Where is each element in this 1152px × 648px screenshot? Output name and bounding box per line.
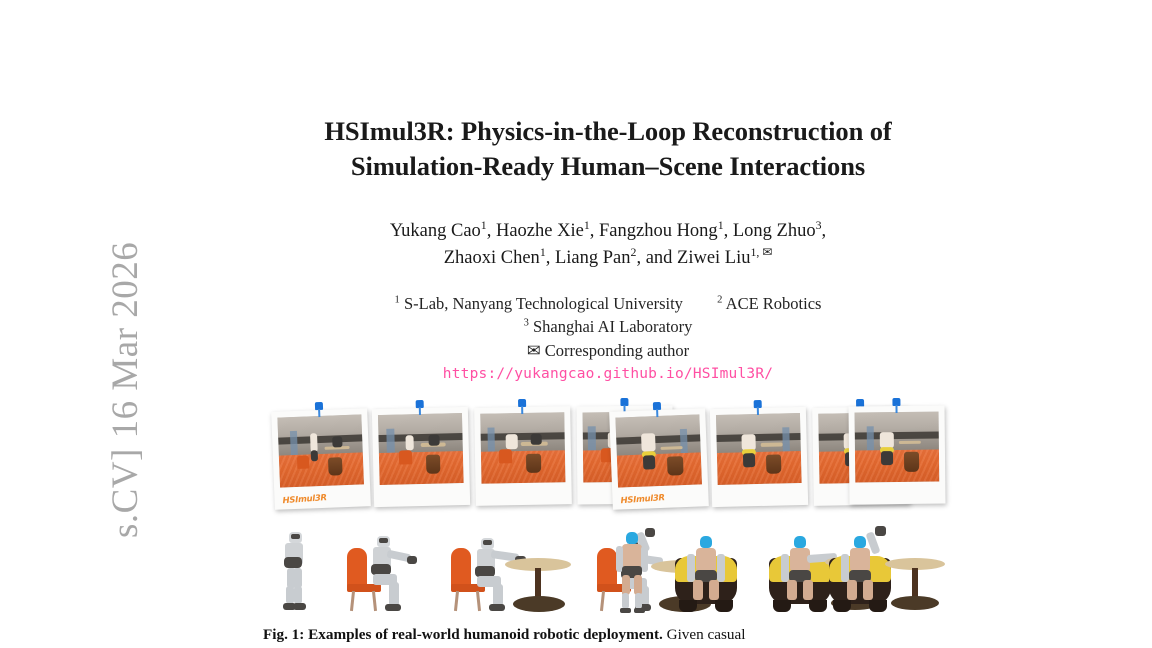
affiliation-3: Shanghai AI Laboratory <box>533 317 692 336</box>
polaroid-photo[interactable] <box>710 407 808 507</box>
author-line-2: Zhaoxi Chen1, Liang Pan2, and Ziwei Liu1… <box>263 245 953 271</box>
polaroid-photo[interactable] <box>372 407 470 507</box>
affiliation-line-2: 3 Shanghai AI Laboratory <box>263 315 953 338</box>
affiliation-line-1: 1 S-Lab, Nanyang Technological Universit… <box>263 292 953 315</box>
author-name: Long Zhuo <box>733 221 816 241</box>
page-title: HSImul3R: Physics-in-the-Loop Reconstruc… <box>263 0 953 184</box>
figure-1: HSImul3R <box>263 396 953 616</box>
figure-caption-bold: Examples of real-world humanoid robotic … <box>308 626 663 643</box>
envelope-icon: ✉ <box>527 341 541 360</box>
photo-thumbnail <box>378 413 464 485</box>
author-affil-marker: 1 <box>718 218 724 232</box>
author-list: Yukang Cao1, Haozhe Xie1, Fangzhou Hong1… <box>263 218 953 271</box>
photo-thumbnail <box>716 413 802 485</box>
photo-thumbnail <box>855 412 940 483</box>
affiliation-marker-3: 3 <box>524 318 529 329</box>
render-robot-seated-armchair[interactable] <box>669 524 749 616</box>
affiliation-1: S-Lab, Nanyang Technological University <box>404 294 683 313</box>
pushpin-icon <box>315 402 324 417</box>
affiliation-list: 1 S-Lab, Nanyang Technological Universit… <box>263 292 953 385</box>
corresponding-author-label: Corresponding author <box>545 341 689 360</box>
pushpin-icon <box>653 402 662 417</box>
render-robot-standing[interactable] <box>273 524 327 616</box>
render-robot-seated-at-table[interactable] <box>449 524 579 616</box>
polaroid-photo[interactable]: HSImul3R <box>271 408 371 510</box>
render-robot-seated-arm-raised-front[interactable] <box>823 524 949 616</box>
author-affil-marker: 3 <box>816 218 822 232</box>
affiliation-2: ACE Robotics <box>726 294 822 313</box>
render-strip-row <box>263 524 953 616</box>
photo-thumbnail <box>615 414 702 487</box>
pushpin-icon <box>892 398 900 413</box>
author-line-1: Yukang Cao1, Haozhe Xie1, Fangzhou Hong1… <box>263 218 953 244</box>
title-line-1: HSImul3R: Physics-in-the-Loop Reconstruc… <box>263 114 953 149</box>
render-robot-approaching-chair[interactable] <box>343 524 433 616</box>
corresponding-author-line: ✉ Corresponding author <box>263 339 953 362</box>
author-affil-marker: 2 <box>631 245 637 259</box>
author-name: Yukang Cao <box>390 221 481 241</box>
polaroid-photo[interactable] <box>474 406 572 506</box>
figure-caption-text: Given casual <box>667 626 746 643</box>
author-affil-marker: 1 <box>540 245 546 259</box>
figure-caption-label: Fig. 1: <box>263 626 304 643</box>
author-affil-marker: 1 <box>584 218 590 232</box>
author-name: Zhaoxi Chen <box>444 248 540 268</box>
figure-caption: Fig. 1: Examples of real-world humanoid … <box>263 624 953 647</box>
pushpin-icon <box>416 400 424 415</box>
pushpin-icon <box>754 400 762 415</box>
author-name: Haozhe Xie <box>496 221 584 241</box>
photo-thumbnail <box>277 414 364 487</box>
author-affil-marker: 1 <box>481 218 487 232</box>
polaroid-photo[interactable] <box>848 406 945 505</box>
author-name: Fangzhou Hong <box>599 221 718 241</box>
author-corresponding-marker: 1, ✉ <box>751 245 773 259</box>
photo-strip-row: HSImul3R <box>263 396 953 512</box>
affiliation-marker-1: 1 <box>395 295 400 306</box>
photo-thumbnail <box>480 412 565 483</box>
pushpin-icon <box>518 399 526 414</box>
paper-column: HSImul3R: Physics-in-the-Loop Reconstruc… <box>263 0 953 648</box>
render-robot-standing-front[interactable] <box>611 524 655 616</box>
arxiv-stamp: s.CV] 16 Mar 2026 <box>98 118 154 538</box>
author-name: Ziwei Liu <box>677 248 750 268</box>
photo-handwritten-label: HSImul3R <box>282 493 327 506</box>
affiliation-marker-2: 2 <box>717 295 722 306</box>
author-name: Liang Pan <box>555 248 631 268</box>
project-url-link[interactable]: https://yukangcao.github.io/HSImul3R/ <box>263 364 953 385</box>
polaroid-photo[interactable]: HSImul3R <box>609 408 709 510</box>
photo-handwritten-label: HSImul3R <box>620 493 665 506</box>
title-line-2: Simulation-Ready Human–Scene Interaction… <box>263 149 953 184</box>
